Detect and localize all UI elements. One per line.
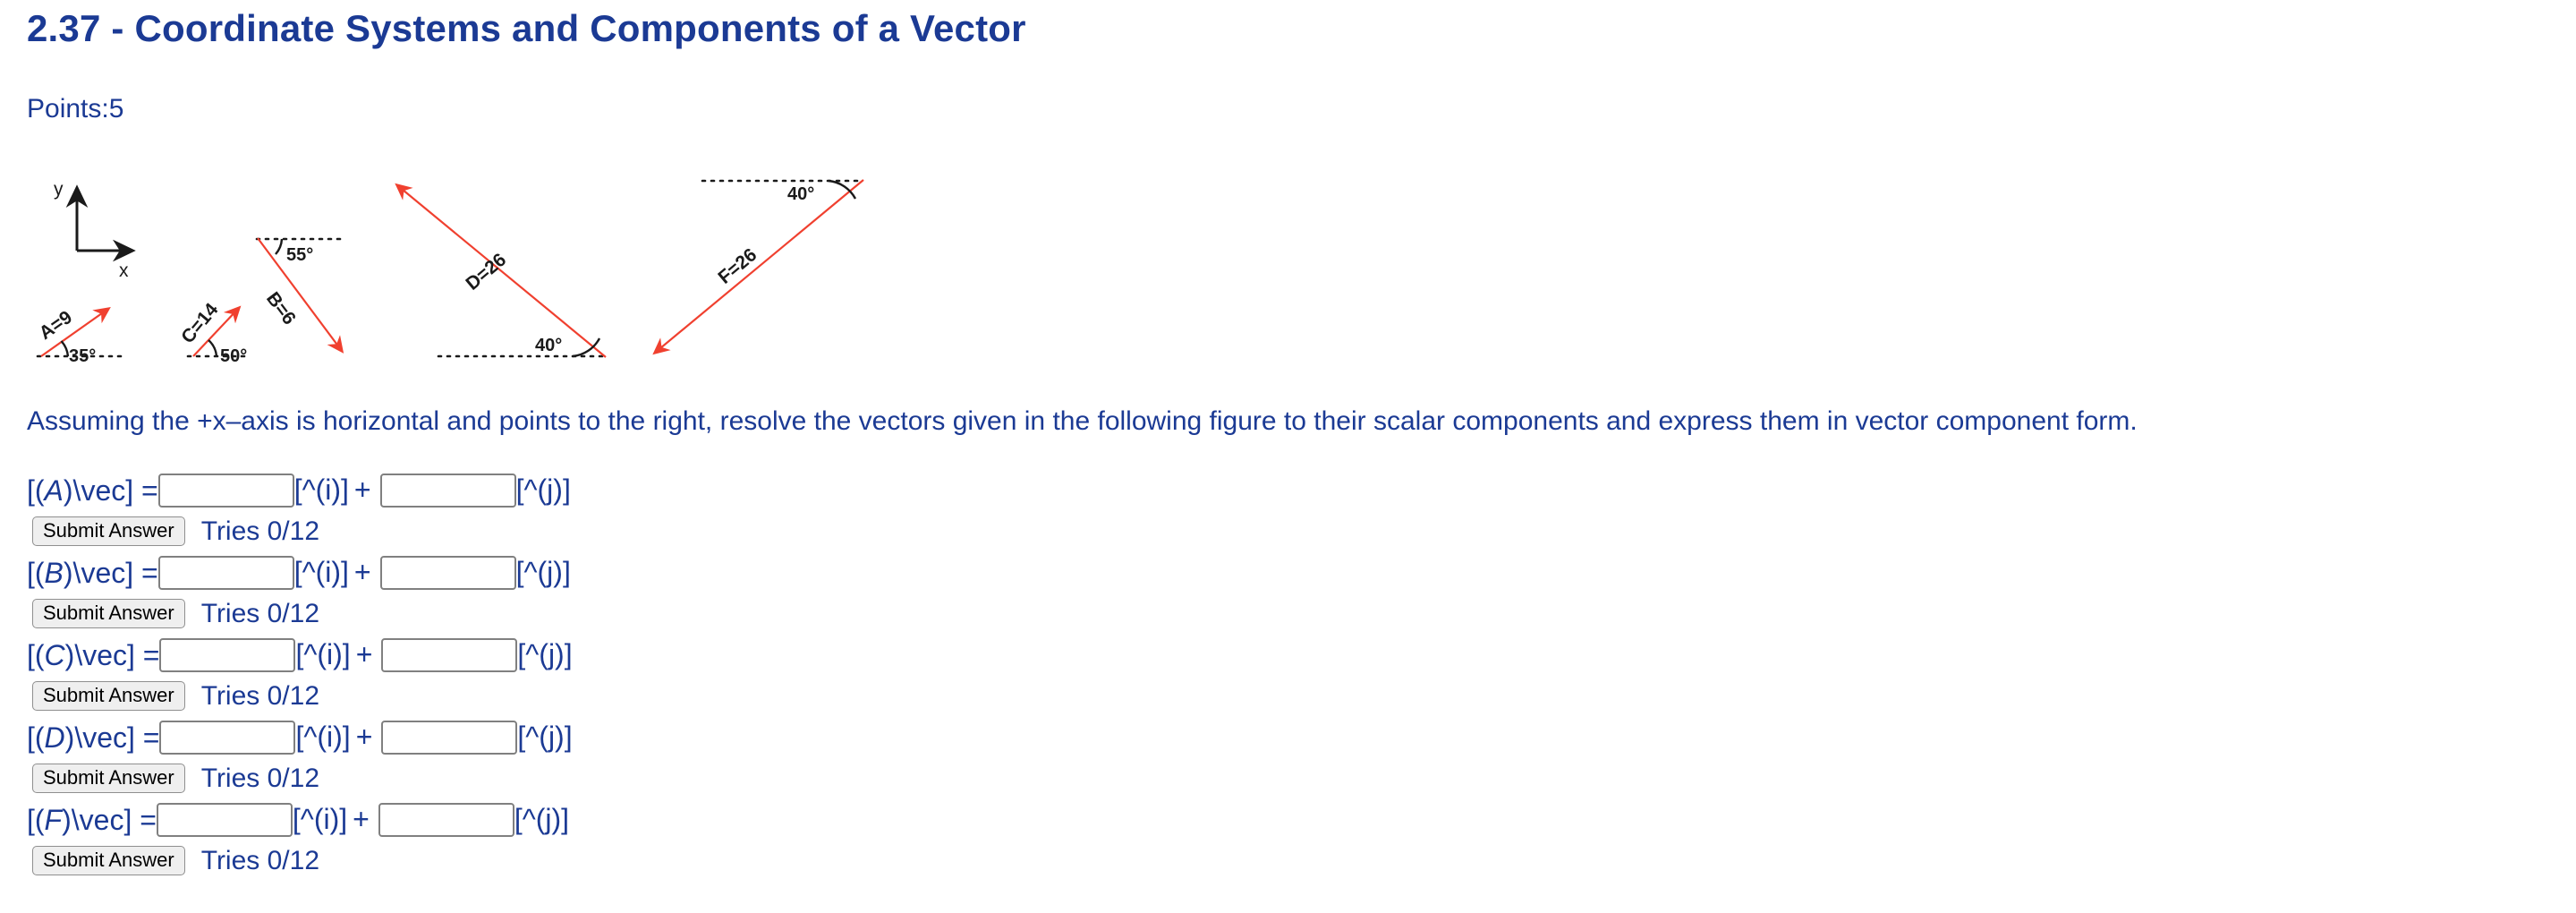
- submit-row-c: Submit Answer Tries 0/12: [27, 676, 1279, 716]
- submit-answer-button-a[interactable]: Submit Answer: [32, 516, 185, 546]
- answers-list: [(A)\vec] = [^(i)] + [^(j)] Submit Answe…: [27, 469, 1279, 881]
- submit-answer-button-f[interactable]: Submit Answer: [32, 846, 185, 875]
- submit-row-d: Submit Answer Tries 0/12: [27, 758, 1279, 798]
- tries-counter-d: Tries 0/12: [201, 764, 319, 794]
- vector-d-angle: 40°: [535, 336, 562, 355]
- unit-j-b: [^(j)]: [516, 556, 571, 589]
- submit-answer-button-c[interactable]: Submit Answer: [32, 681, 185, 711]
- plus-sign-d: +: [351, 721, 382, 754]
- vector-c-angle: 55°: [286, 245, 313, 265]
- question-prompt: Assuming the +x–axis is horizontal and p…: [27, 405, 2568, 439]
- answer-label-b: [(B)\vec] =: [27, 559, 158, 587]
- plus-sign-c: +: [351, 638, 382, 671]
- unit-j-f: [^(j)]: [514, 803, 569, 836]
- vector-b: 50° C=14: [177, 299, 249, 366]
- answer-label-f: [(F)\vec] =: [27, 806, 157, 834]
- submit-row-f: Submit Answer Tries 0/12: [27, 840, 1279, 881]
- vector-c-label: B=6: [262, 288, 300, 329]
- points-label: Points:5: [27, 94, 123, 124]
- answer-input-b-j[interactable]: [380, 556, 516, 590]
- answer-row-d: [(D)\vec] = [^(i)] + [^(j)]: [27, 716, 1279, 758]
- answer-row-c: [(C)\vec] = [^(i)] + [^(j)]: [27, 634, 1279, 676]
- unit-i-b: [^(i)]: [294, 556, 349, 589]
- unit-j-c: [^(j)]: [517, 638, 572, 671]
- tries-counter-b: Tries 0/12: [201, 599, 319, 629]
- submit-row-b: Submit Answer Tries 0/12: [27, 593, 1279, 634]
- answer-label-d: [(D)\vec] =: [27, 723, 159, 752]
- vector-f-label: F=26: [714, 244, 761, 288]
- submit-answer-button-d[interactable]: Submit Answer: [32, 764, 185, 793]
- axis-label-y: y: [54, 179, 64, 200]
- answer-row-b: [(B)\vec] = [^(i)] + [^(j)]: [27, 551, 1279, 593]
- axis-label-x: x: [119, 260, 129, 281]
- answer-row-a: [(A)\vec] = [^(i)] + [^(j)]: [27, 469, 1279, 511]
- answer-input-b-i[interactable]: [158, 556, 294, 590]
- unit-i-f: [^(i)]: [293, 803, 347, 836]
- plus-sign-f: +: [347, 803, 378, 836]
- vector-f: 40° F=26: [655, 180, 863, 353]
- submit-answer-button-b[interactable]: Submit Answer: [32, 599, 185, 628]
- vector-b-angle: 50°: [220, 346, 247, 366]
- plus-sign-b: +: [349, 556, 380, 589]
- answer-input-d-j[interactable]: [381, 721, 517, 755]
- unit-i-a: [^(i)]: [294, 474, 349, 507]
- vector-a-angle: 35°: [69, 346, 96, 366]
- vector-diagram: y x 35° A=9 50° C=14: [18, 152, 922, 385]
- answer-row-f: [(F)\vec] = [^(i)] + [^(j)]: [27, 798, 1279, 840]
- unit-j-d: [^(j)]: [517, 721, 572, 754]
- vector-b-label: C=14: [177, 299, 222, 347]
- plus-sign-a: +: [349, 474, 380, 507]
- unit-i-d: [^(i)]: [295, 721, 350, 754]
- unit-j-a: [^(j)]: [516, 474, 571, 507]
- submit-row-a: Submit Answer Tries 0/12: [27, 511, 1279, 551]
- tries-counter-c: Tries 0/12: [201, 681, 319, 712]
- page-title: 2.37 - Coordinate Systems and Components…: [27, 7, 1026, 50]
- unit-i-c: [^(i)]: [295, 638, 350, 671]
- answer-input-c-j[interactable]: [381, 638, 517, 672]
- answer-input-f-j[interactable]: [378, 803, 514, 837]
- answer-input-c-i[interactable]: [159, 638, 295, 672]
- answer-input-f-i[interactable]: [157, 803, 293, 837]
- tries-counter-f: Tries 0/12: [201, 846, 319, 876]
- vector-f-angle: 40°: [787, 184, 814, 204]
- vector-c: 55° B=6: [257, 238, 342, 351]
- tries-counter-a: Tries 0/12: [201, 516, 319, 547]
- answer-input-a-j[interactable]: [380, 474, 516, 508]
- vector-d: 40° D=26: [397, 185, 606, 357]
- vector-a-label: A=9: [36, 307, 76, 344]
- answer-label-c: [(C)\vec] =: [27, 641, 159, 670]
- answer-input-d-i[interactable]: [159, 721, 295, 755]
- coordinate-axes: y x: [54, 179, 132, 281]
- vector-a: 35° A=9: [36, 307, 121, 366]
- answer-label-a: [(A)\vec] =: [27, 476, 158, 505]
- exercise-page: 2.37 - Coordinate Systems and Components…: [0, 0, 2576, 913]
- answer-input-a-i[interactable]: [158, 474, 294, 508]
